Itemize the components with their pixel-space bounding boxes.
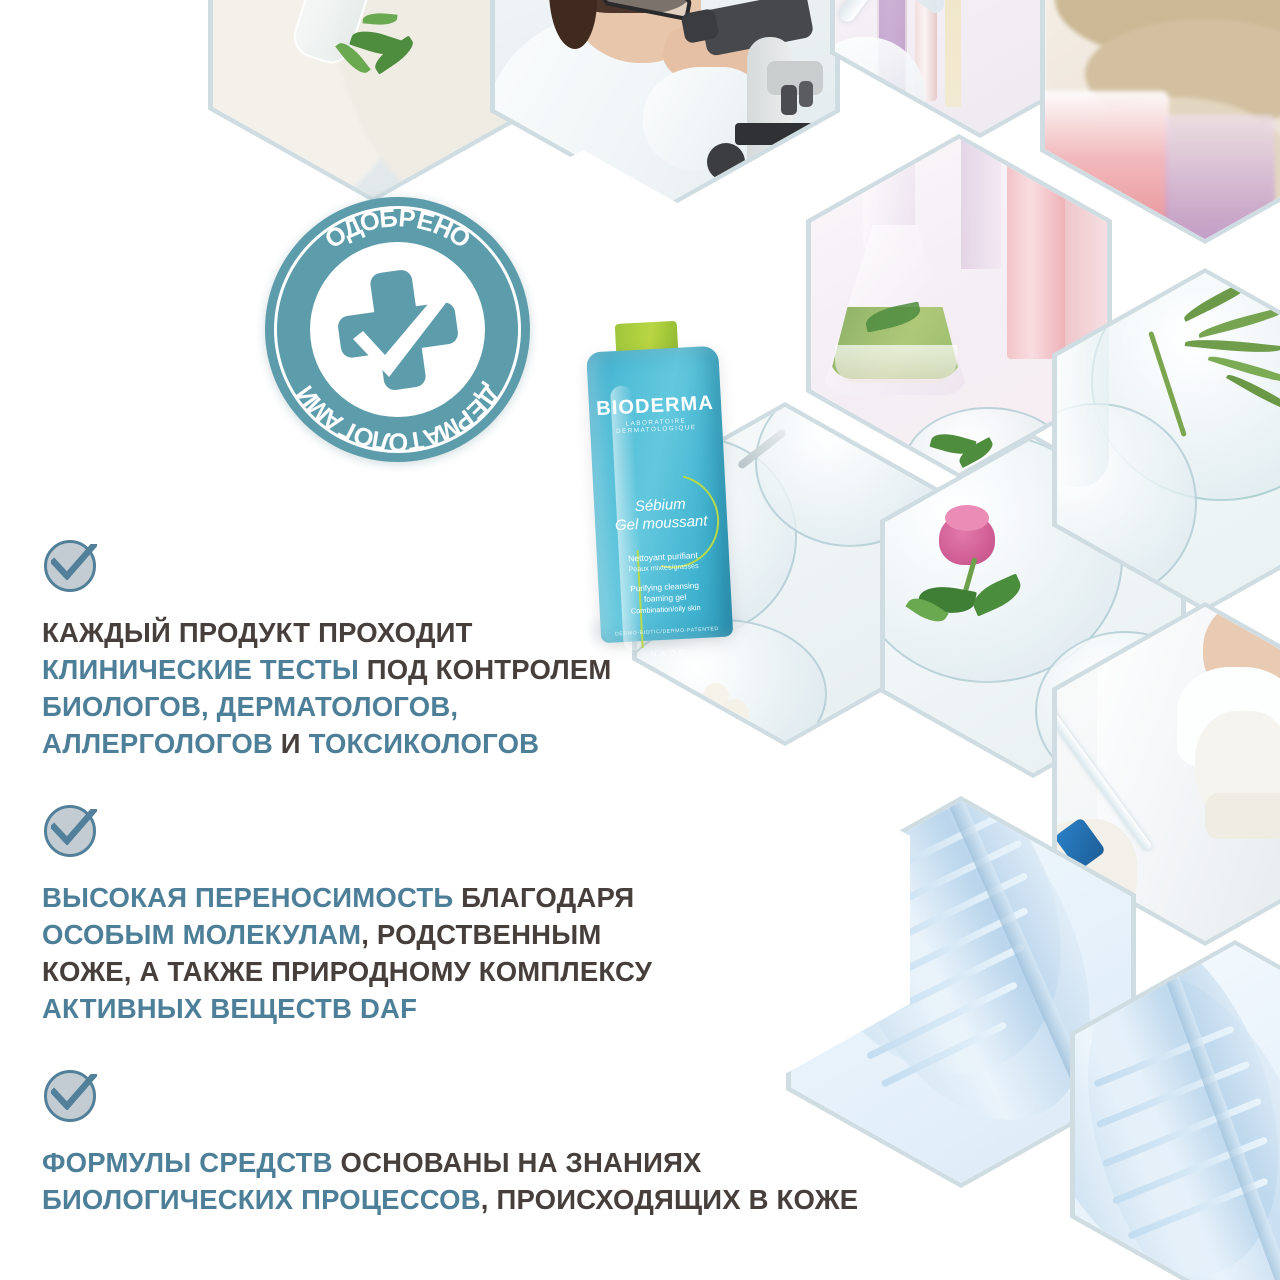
hex-scientist-microscope [495,0,835,205]
medical-cross-with-checkmark-icon [333,265,463,395]
claim-plain-text: , РОДСТВЕННЫМ [361,919,601,950]
claim-highlight-text: БИОЛОГИЧЕСКИХ ПРОЦЕССОВ [42,1184,481,1215]
claim-plain-text: ПОД КОНТРОЛЕМ [359,654,612,685]
claim-highlight-text: БИОЛОГОВ, ДЕРМАТОЛОГОВ, [42,691,458,722]
claim-line: КАЖДЫЙ ПРОДУКТ ПРОХОДИТ [42,614,782,651]
claim-highlight-text: ОСОБЫМ МОЛЕКУЛАМ [42,919,361,950]
claim-plain-text: КАЖДЫЙ ПРОДУКТ ПРОХОДИТ [42,617,473,648]
claim-line: ФОРМУЛЫ СРЕДСТВ ОСНОВАНЫ НА ЗНАНИЯХ [42,1144,782,1181]
claim-line: АКТИВНЫХ ВЕЩЕСТВ DAF [42,990,782,1027]
claim-line: БИОЛОГОВ, ДЕРМАТОЛОГОВ, [42,688,782,725]
claim-highlight-text: ФОРМУЛЫ СРЕДСТВ [42,1147,333,1178]
claim-highlight-text: КЛИНИЧЕСКИЕ ТЕСТЫ [42,654,359,685]
claim-line: ВЫСОКАЯ ПЕРЕНОСИМОСТЬ БЛАГОДАРЯ [42,879,782,916]
claim-text: ФОРМУЛЫ СРЕДСТВ ОСНОВАНЫ НА ЗНАНИЯХБИОЛО… [42,1144,782,1218]
poster-canvas: ОДОБРЕНО ДЕРМАТОЛОГАМИ ОДОБРЕНО ДЕРМАТОЛ… [0,0,1280,1280]
checkmark-circle-icon [42,1068,100,1126]
claim-highlight-text: АЛЛЕРГОЛОГОВ [42,728,273,759]
claim-plain-text: КОЖЕ, А ТАКЖЕ ПРИРОДНОМУ КОМПЛЕКСУ [42,956,652,987]
claim-plain-text: , ПРОИСХОДЯЩИХ В КОЖЕ [481,1184,859,1215]
checkmark-circle-icon [42,538,100,596]
claim-line: КЛИНИЧЕСКИЕ ТЕСТЫ ПОД КОНТРОЛЕМ [42,651,782,688]
claim-line: ОСОБЫМ МОЛЕКУЛАМ, РОДСТВЕННЫМ [42,916,782,953]
claim-highlight-text: АКТИВНЫХ ВЕЩЕСТВ DAF [42,993,417,1024]
hex-gloved-hands-test-tube-plant [213,0,533,197]
hex-gloved-hand-beaker [1045,0,1280,239]
claim-formulas: ФОРМУЛЫ СРЕДСТВ ОСНОВАНЫ НА ЗНАНИЯХБИОЛО… [42,1068,782,1218]
claim-highlight-text: ВЫСОКАЯ ПЕРЕНОСИМОСТЬ [42,882,453,913]
claim-line: БИОЛОГИЧЕСКИХ ПРОЦЕССОВ, ПРОИСХОДЯЩИХ В … [42,1181,782,1218]
claim-high-tolerance: ВЫСОКАЯ ПЕРЕНОСИМОСТЬ БЛАГОДАРЯОСОБЫМ МО… [42,803,782,1027]
claim-line: КОЖЕ, А ТАКЖЕ ПРИРОДНОМУ КОМПЛЕКСУ [42,953,782,990]
claim-plain-text: БЛАГОДАРЯ [453,882,634,913]
claim-text: КАЖДЫЙ ПРОДУКТ ПРОХОДИТКЛИНИЧЕСКИЕ ТЕСТЫ… [42,614,782,762]
claim-plain-text: ОСНОВАНЫ НА ЗНАНИЯХ [333,1147,702,1178]
claim-clinical-tests: КАЖДЫЙ ПРОДУКТ ПРОХОДИТКЛИНИЧЕСКИЕ ТЕСТЫ… [42,538,782,762]
checkmark-circle-icon [42,803,100,861]
claim-highlight-text: ТОКСИКОЛОГОВ [309,728,540,759]
claim-text: ВЫСОКАЯ ПЕРЕНОСИМОСТЬ БЛАГОДАРЯОСОБЫМ МО… [42,879,782,1027]
approved-by-dermatologists-seal: ОДОБРЕНО ДЕРМАТОЛОГАМИ ОДОБРЕНО ДЕРМАТОЛ… [265,197,530,462]
claim-line: АЛЛЕРГОЛОГОВ И ТОКСИКОЛОГОВ [42,725,782,762]
claim-plain-text: И [273,728,309,759]
